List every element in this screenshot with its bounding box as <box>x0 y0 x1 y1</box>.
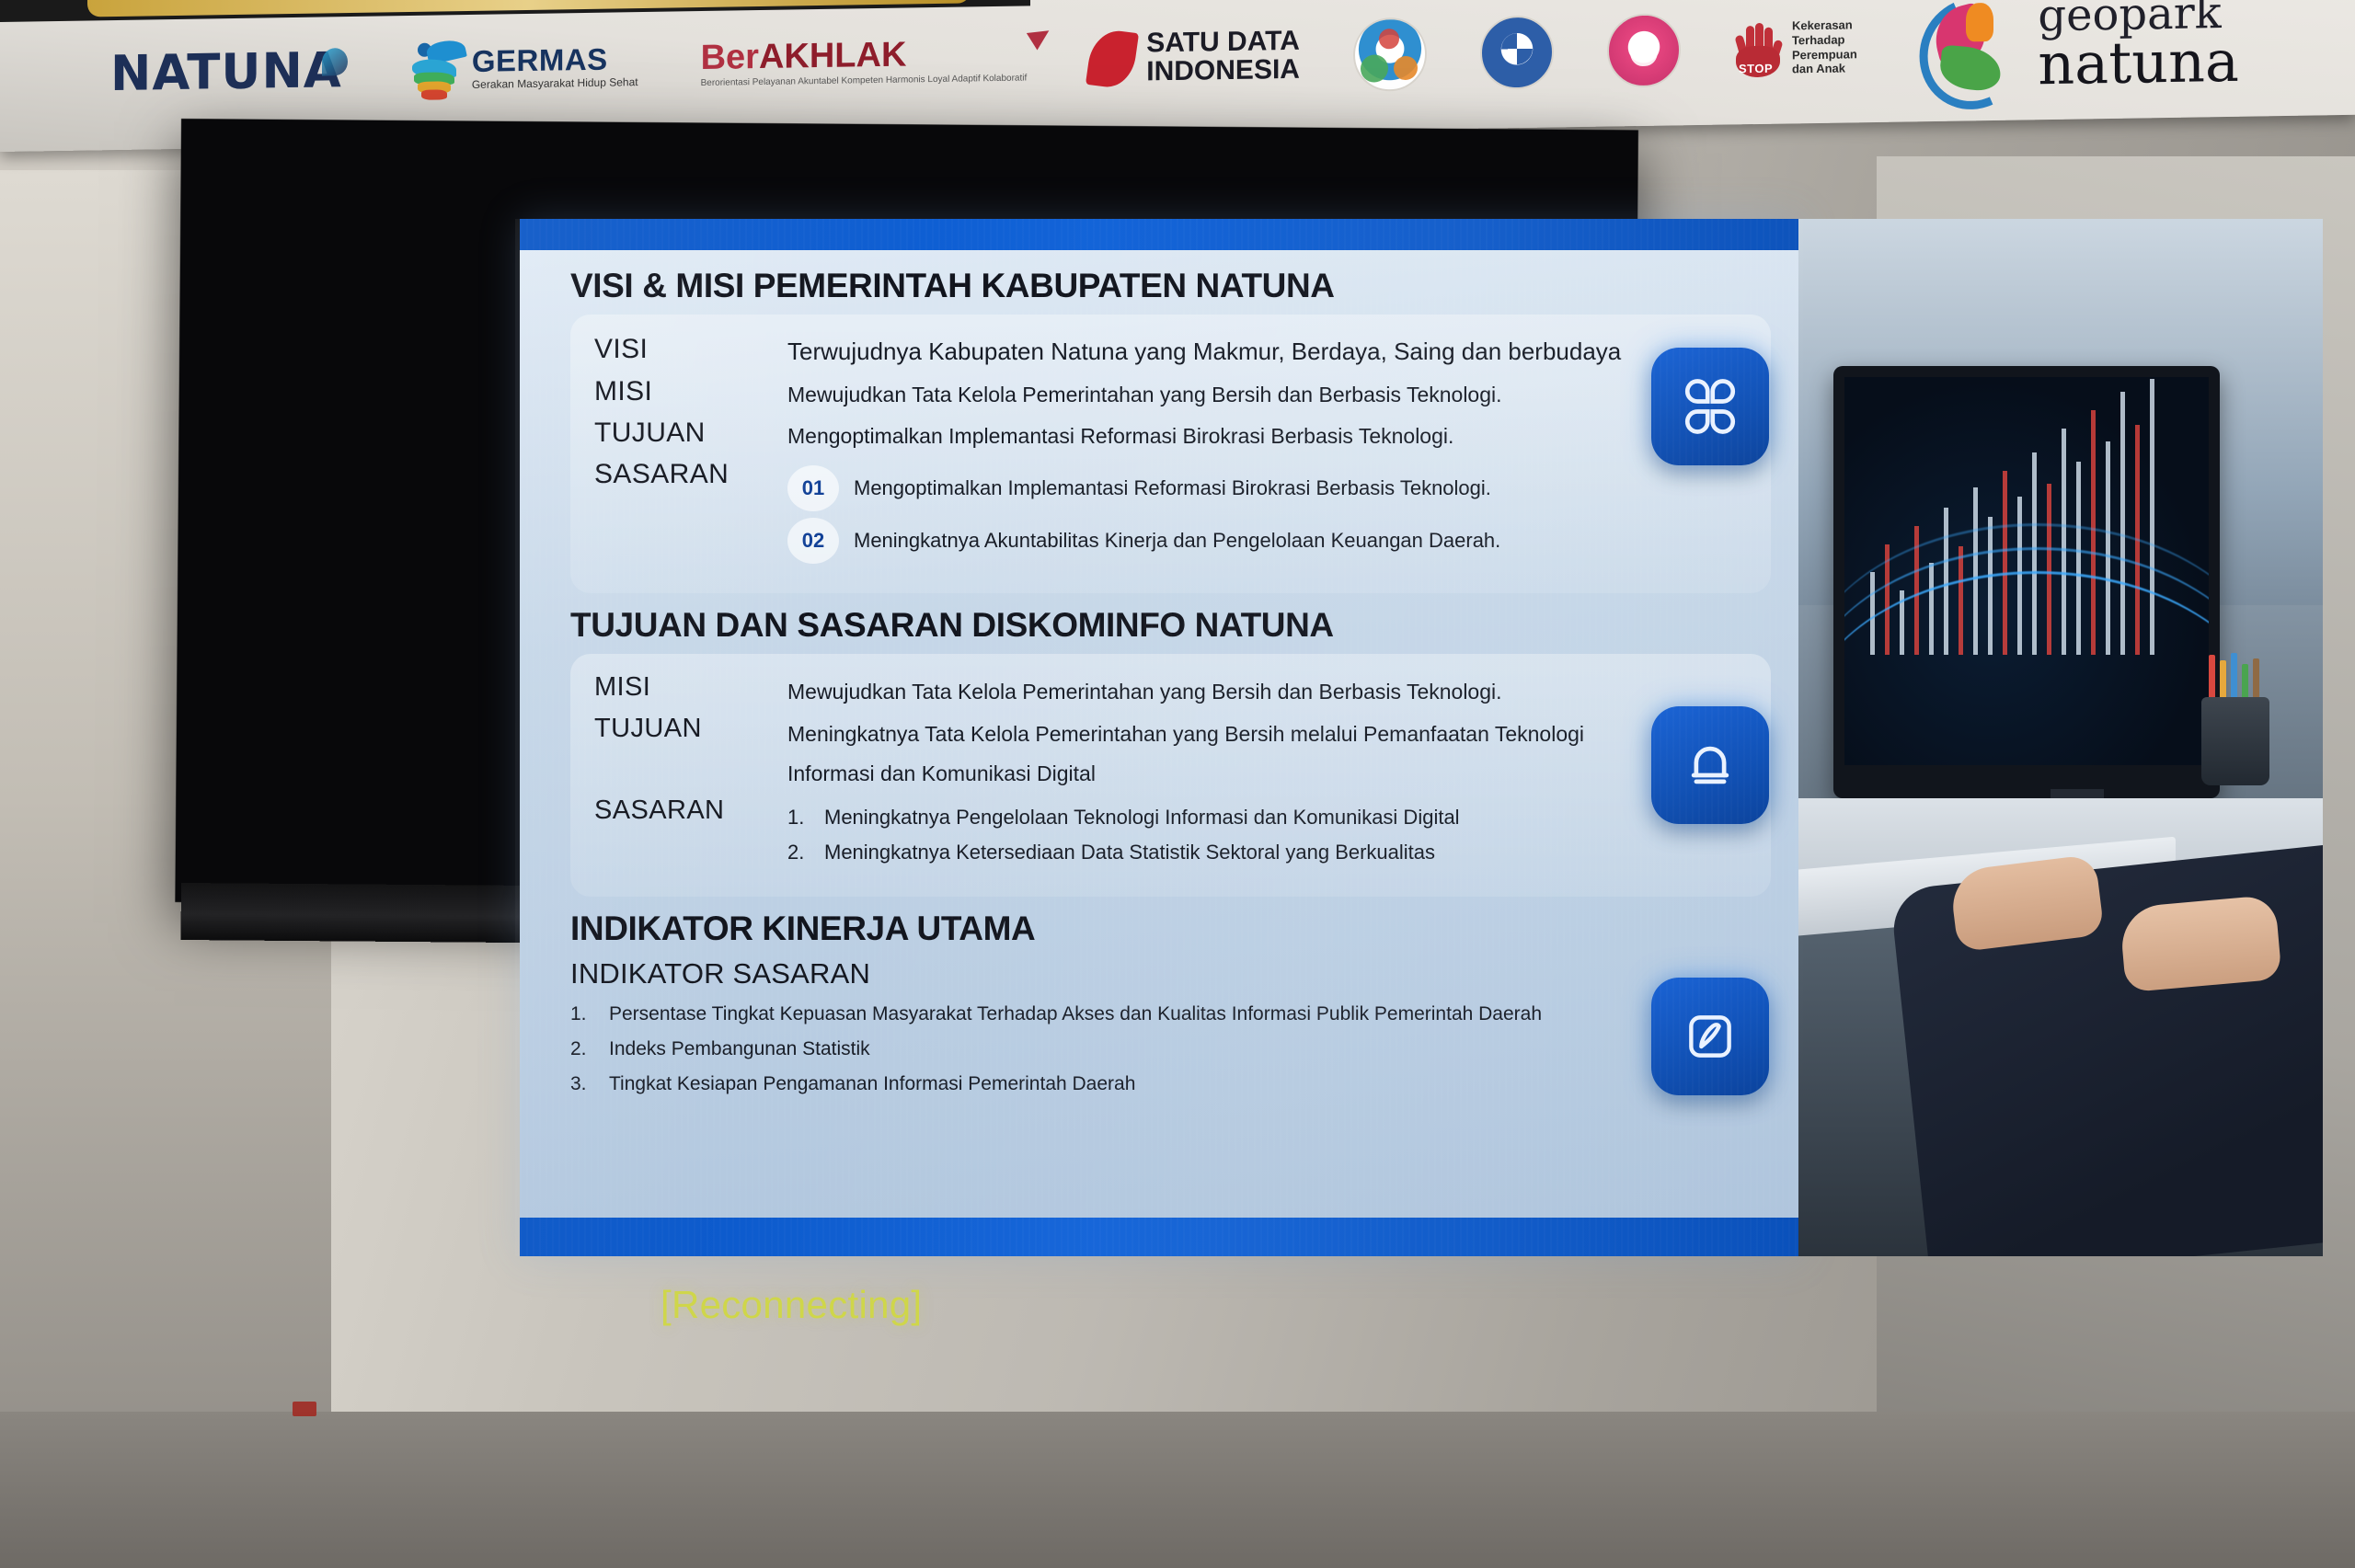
geopark-natuna-logo: geopark natuna <box>1914 0 2239 101</box>
indikator-item-number: 1. <box>570 1003 594 1025</box>
sasaran-2-item-number: 1. <box>787 804 811 831</box>
row-misi-2: MISI Mewujudkan Tata Kelola Pemerintahan… <box>594 673 1747 706</box>
satu-data-flame-icon <box>1086 28 1139 90</box>
germas-title: GERMAS <box>472 43 638 76</box>
row-visi-label: VISI <box>594 334 787 364</box>
monitor-sticker <box>293 1402 316 1416</box>
row-tujuan-2-label: TUJUAN <box>594 715 787 744</box>
row-tujuan-value: Mengoptimalkan Implemantasi Reformasi Bi… <box>787 418 1747 451</box>
photo-pencil-cup <box>2201 697 2269 785</box>
bell-icon-button[interactable] <box>1651 706 1769 824</box>
posyandu-badge <box>1353 17 1427 91</box>
row-tujuan: TUJUAN Mengoptimalkan Implemantasi Refor… <box>594 418 1747 451</box>
indikator-sasaran-subtitle: INDIKATOR SASARAN <box>570 957 1771 990</box>
row-tujuan-2-line2: Informasi dan Komunikasi Digital <box>787 760 1747 788</box>
row-misi-label: MISI <box>594 376 787 406</box>
geopark-emblem-icon <box>1914 0 2025 101</box>
sasaran-number-badge: 02 <box>787 518 839 564</box>
berakhlak-suffix: AKHLAK <box>759 36 906 77</box>
indikator-item-text: Persentase Tingkat Kepuasan Masyarakat T… <box>609 1003 1542 1025</box>
section-title-visi-misi: VISI & MISI PEMERINTAH KABUPATEN NATUNA <box>570 267 1771 305</box>
stop-kekerasan-line1: Kekerasan <box>1792 17 1857 33</box>
row-sasaran: SASARAN 01 Mengoptimalkan Implemantasi R… <box>594 459 1747 570</box>
slide-bottom-accent-bar <box>520 1218 1798 1256</box>
floor <box>0 1412 2355 1568</box>
row-tujuan-2-line1: Meningkatnya Tata Kelola Pemerintahan ya… <box>787 720 1747 749</box>
section-title-tujuan-sasaran-diskominfo: TUJUAN DAN SASARAN DISKOMINFO NATUNA <box>570 606 1771 645</box>
slide-stock-photo <box>1798 219 2323 1256</box>
stop-kekerasan-logo: STOP Kekerasan Terhadap Perempuan dan An… <box>1732 17 1857 78</box>
sasaran-item-text: Mengoptimalkan Implemantasi Reformasi Bi… <box>854 475 1491 502</box>
sasaran-item: 02 Meningkatnya Akuntabilitas Kinerja da… <box>787 518 1747 564</box>
grid-clover-icon-button[interactable] <box>1651 348 1769 465</box>
geopark-line2: natuna <box>2038 35 2239 92</box>
bell-icon <box>1680 735 1740 795</box>
berakhlak-chevron-icon <box>1027 22 1054 50</box>
stop-hand-icon: STOP <box>1732 19 1784 77</box>
natuna-logo: NATUNA <box>110 42 342 102</box>
section-title-indikator-kinerja-utama: INDIKATOR KINERJA UTAMA <box>570 910 1771 948</box>
slide-top-accent-bar <box>520 219 1798 250</box>
photo-monitor <box>1833 366 2220 798</box>
sasaran-2-item-text: Meningkatnya Ketersediaan Data Statistik… <box>824 839 1435 866</box>
photo-right-hand <box>2119 895 2281 992</box>
sasaran-item-text: Meningkatnya Akuntabilitas Kinerja dan P… <box>854 527 1500 555</box>
row-sasaran-2: SASARAN 1. Meningkatnya Pengelolaan Tekn… <box>594 796 1747 873</box>
visi-misi-panel: VISI Terwujudnya Kabupaten Natuna yang M… <box>570 315 1771 593</box>
row-sasaran-label: SASARAN <box>594 459 787 489</box>
row-misi-2-label: MISI <box>594 673 787 703</box>
natuna-swoosh-icon <box>322 48 348 75</box>
row-misi: MISI Mewujudkan Tata Kelola Pemerintahan… <box>594 376 1747 409</box>
puspaga-badge <box>1607 13 1681 87</box>
row-misi-2-value: Mewujudkan Tata Kelola Pemerintahan yang… <box>787 673 1747 706</box>
sasaran-2-item-number: 2. <box>787 839 811 866</box>
photo-monitor-screen <box>1844 377 2209 765</box>
row-visi: VISI Terwujudnya Kabupaten Natuna yang M… <box>594 334 1747 368</box>
sasaran-2-item: 1. Meningkatnya Pengelolaan Teknologi In… <box>787 804 1747 831</box>
indikator-item-number: 2. <box>570 1038 594 1060</box>
tut-wuri-handayani-badge <box>1480 15 1554 89</box>
stop-kekerasan-line3: Perempuan <box>1792 47 1857 63</box>
sasaran-2-item-text: Meningkatnya Pengelolaan Teknologi Infor… <box>824 804 1460 831</box>
indikator-item-text: Indeks Pembangunan Statistik <box>609 1038 870 1060</box>
indikator-item-number: 3. <box>570 1073 594 1095</box>
stop-kekerasan-line4: dan Anak <box>1792 62 1857 77</box>
row-tujuan-2: TUJUAN Meningkatnya Tata Kelola Pemerint… <box>594 715 1747 788</box>
row-tujuan-label: TUJUAN <box>594 418 787 448</box>
stop-hand-label: STOP <box>1739 61 1773 75</box>
satu-data-indonesia-logo: SATU DATA INDONESIA <box>1089 27 1300 87</box>
berakhlak-prefix: Ber <box>701 38 759 77</box>
row-misi-value: Mewujudkan Tata Kelola Pemerintahan yang… <box>787 376 1747 409</box>
edit-square-icon-button[interactable] <box>1651 978 1769 1095</box>
indikator-list: 1. Persentase Tingkat Kepuasan Masyaraka… <box>570 1003 1771 1095</box>
diskominfo-panel: MISI Mewujudkan Tata Kelola Pemerintahan… <box>570 654 1771 897</box>
indikator-item: 2. Indeks Pembangunan Statistik <box>570 1038 1771 1060</box>
indikator-item-text: Tingkat Kesiapan Pengamanan Informasi Pe… <box>609 1073 1135 1095</box>
row-visi-value: Terwujudnya Kabupaten Natuna yang Makmur… <box>787 334 1747 368</box>
germas-subtitle: Gerakan Masyarakat Hidup Sehat <box>472 76 638 92</box>
sasaran-number-badge: 01 <box>787 465 839 511</box>
status-caption-reconnecting: [Reconnecting] <box>661 1283 922 1327</box>
satu-data-line1: SATU DATA <box>1146 28 1300 58</box>
germas-logo: GERMAS Gerakan Masyarakat Hidup Sehat <box>407 36 638 100</box>
row-sasaran-2-label: SASARAN <box>594 796 787 826</box>
presentation-slide: VISI & MISI PEMERINTAH KABUPATEN NATUNA … <box>520 219 1798 1256</box>
stop-kekerasan-line2: Terhadap <box>1792 32 1857 48</box>
indikator-item: 1. Persentase Tingkat Kepuasan Masyaraka… <box>570 1003 1771 1025</box>
germas-figure-icon <box>407 39 464 100</box>
grid-clover-icon <box>1680 376 1740 437</box>
edit-square-icon <box>1680 1006 1740 1067</box>
sasaran-item: 01 Mengoptimalkan Implemantasi Reformasi… <box>787 465 1747 511</box>
satu-data-line2: INDONESIA <box>1146 55 1300 86</box>
natuna-logo-text: NATUNA <box>110 42 342 102</box>
berakhlak-logo: BerAKHLAK Berorientasi Pelayanan Akuntab… <box>701 35 1028 89</box>
indikator-item: 3. Tingkat Kesiapan Pengamanan Informasi… <box>570 1073 1771 1095</box>
sasaran-2-item: 2. Meningkatnya Ketersediaan Data Statis… <box>787 839 1747 866</box>
